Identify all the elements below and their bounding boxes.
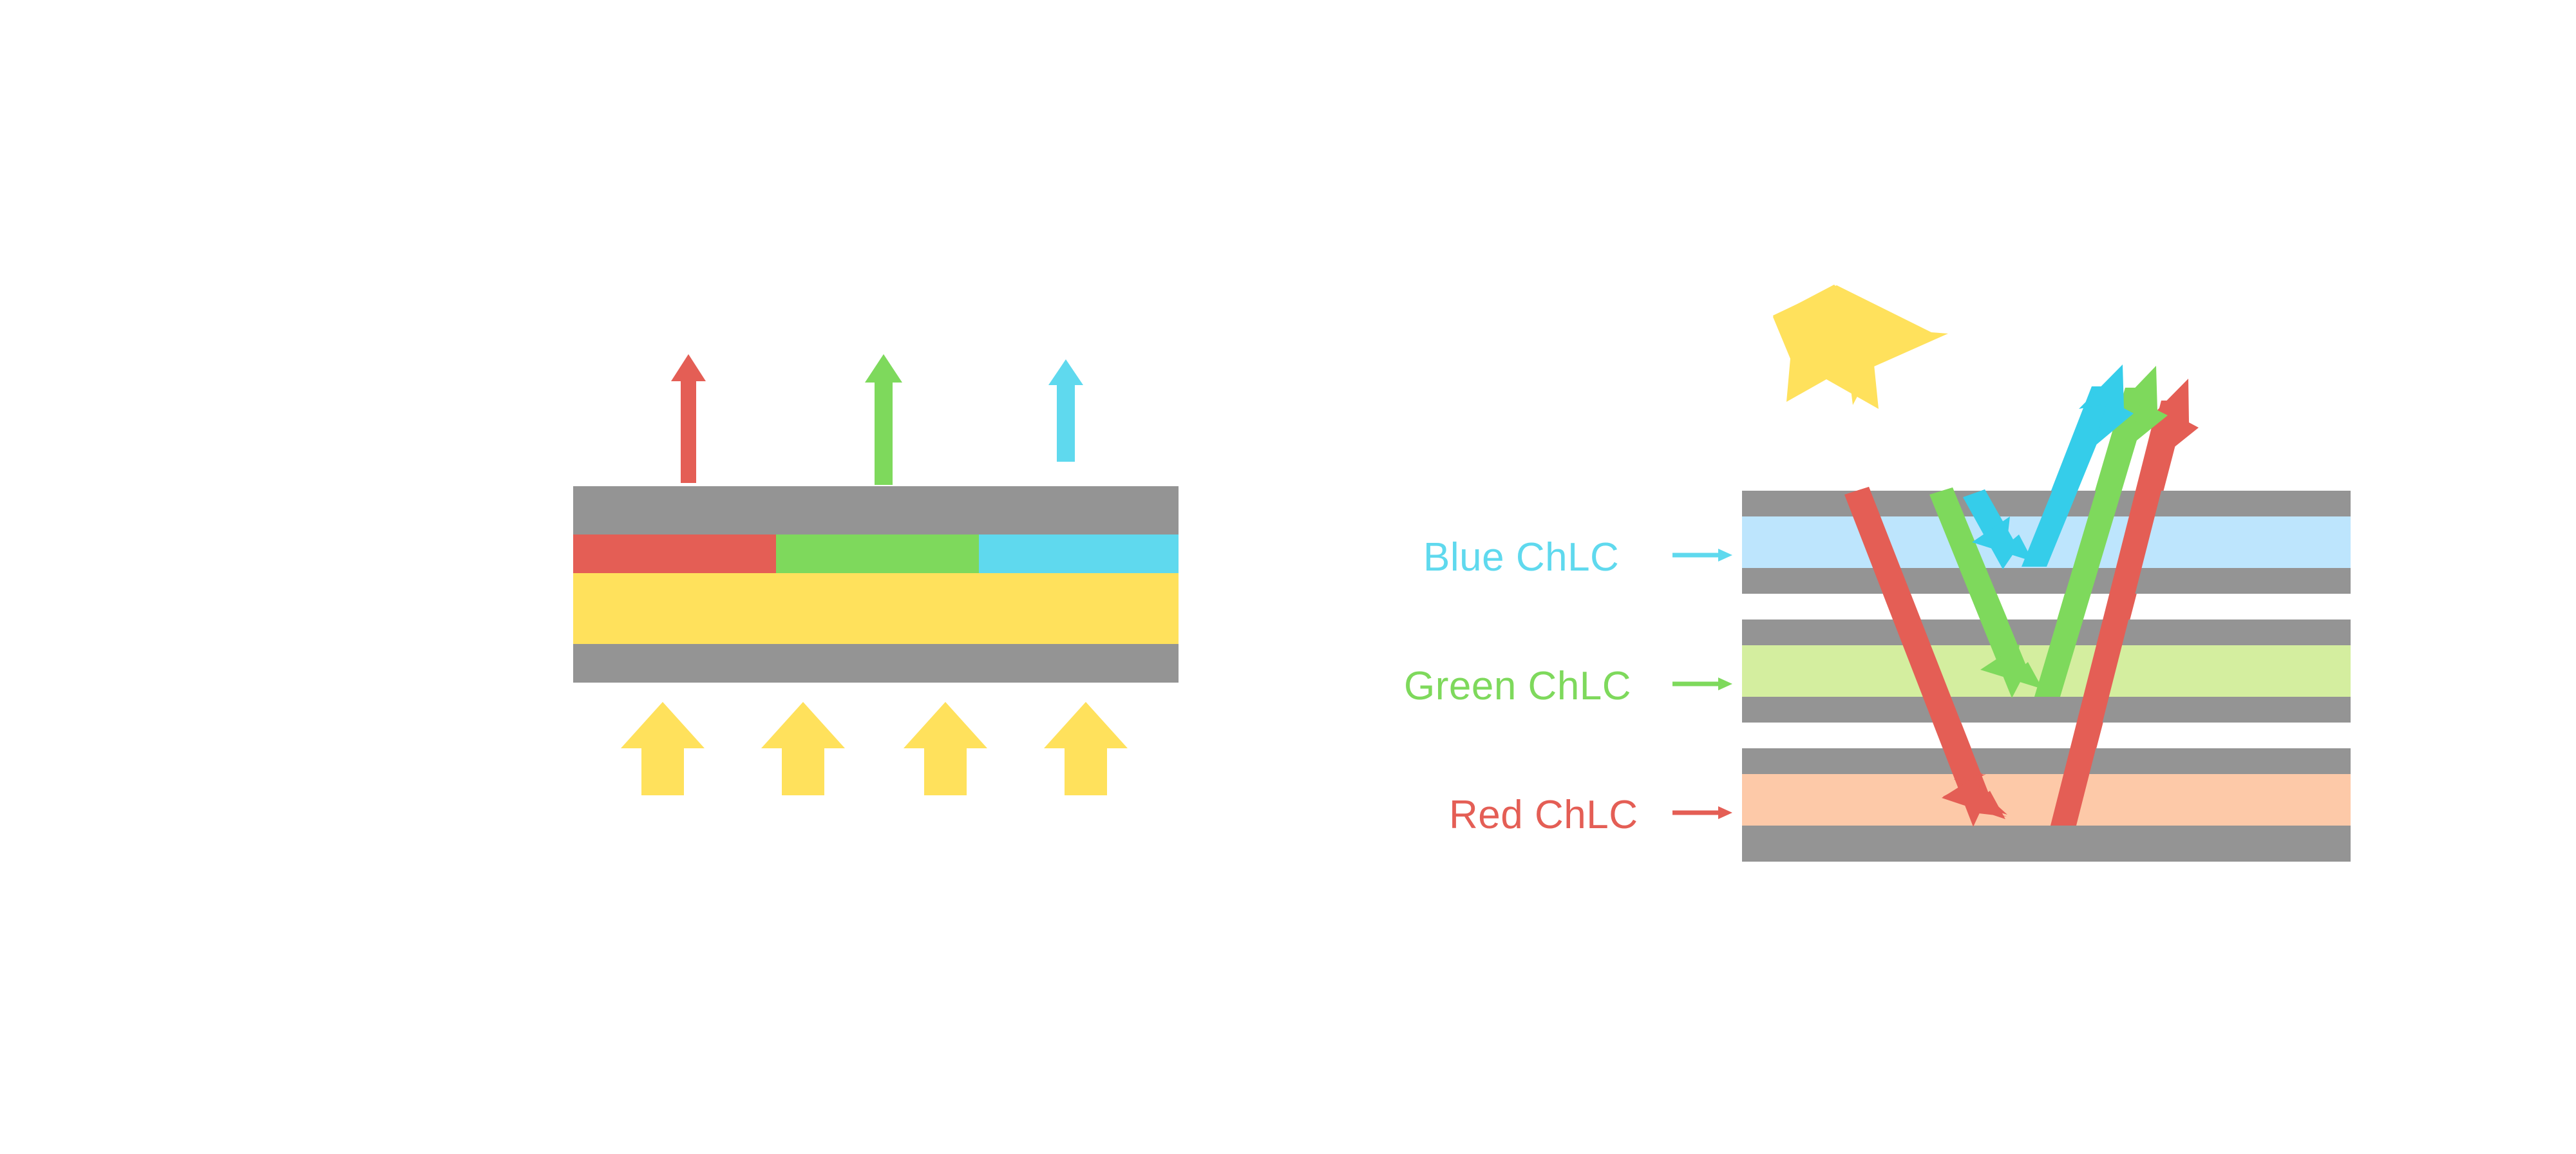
- green-filter: [776, 534, 979, 573]
- blue-cell-bottom-electrode: [1742, 568, 2351, 594]
- green-chlc-label: Green ChLC: [1404, 664, 1631, 708]
- bottom-electrode: [573, 644, 1179, 683]
- blue-filter: [979, 534, 1179, 573]
- green-cell-bottom-electrode: [1742, 697, 2351, 723]
- top-electrode: [573, 486, 1179, 534]
- red-cell-top-electrode: [1742, 748, 2351, 774]
- diagram-canvas: Blue ChLC Green ChLC Red ChLC: [0, 0, 2576, 1154]
- figure-root: Blue ChLC Green ChLC Red ChLC: [0, 0, 2576, 1154]
- red-chlc-layer: [1742, 774, 2351, 826]
- left-stack-layers: [573, 486, 1179, 683]
- red-filter: [573, 534, 776, 573]
- blue-chlc-label: Blue ChLC: [1423, 535, 1619, 580]
- red-cell-bottom-electrode: [1742, 826, 2351, 862]
- green-cell-top-electrode: [1742, 620, 2351, 645]
- red-chlc-label: Red ChLC: [1449, 793, 1638, 837]
- backlight-layer: [573, 573, 1179, 644]
